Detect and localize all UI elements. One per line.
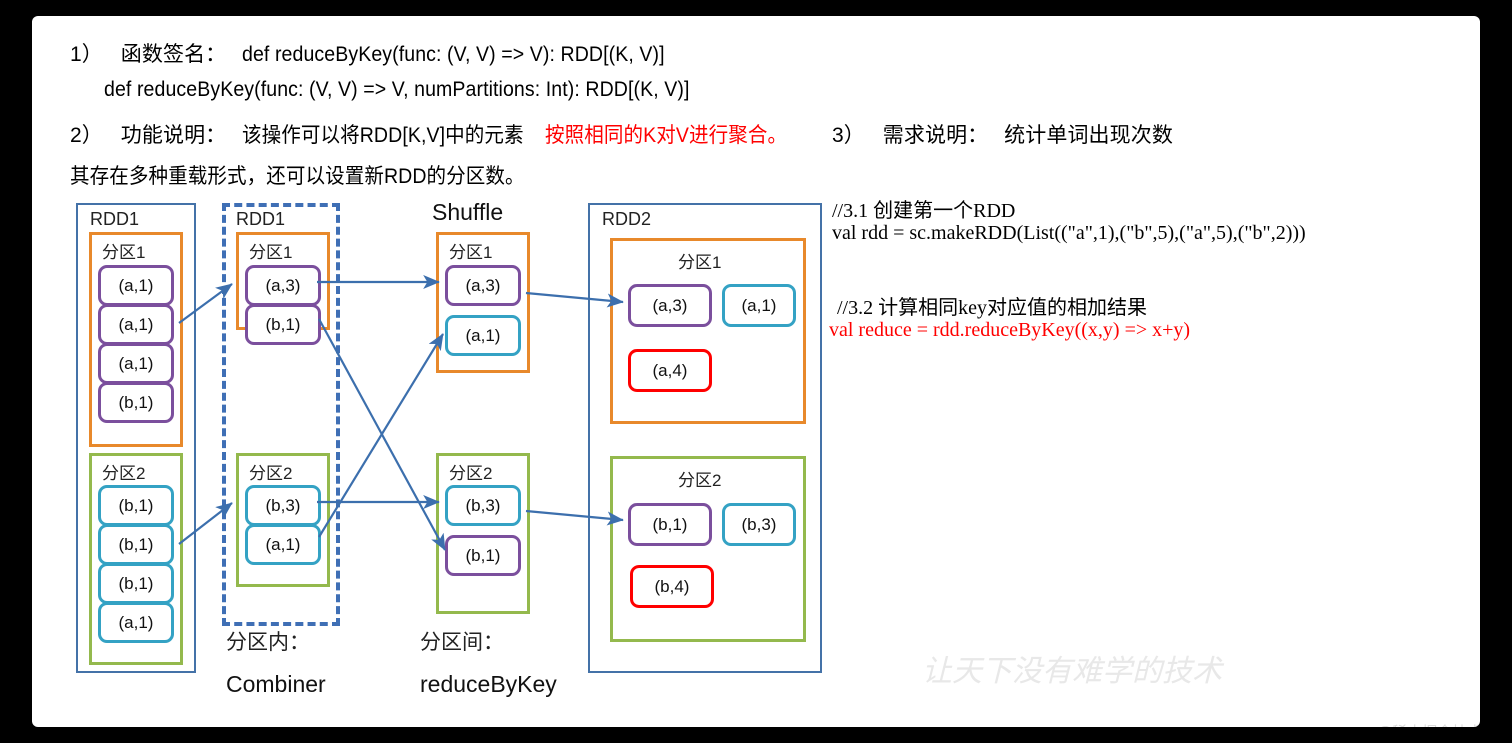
rdd2-partition2-label: 分区2 <box>678 466 721 491</box>
cell-combiner-p1-1: (b,1) <box>245 304 321 345</box>
cell-rdd2-p1-1: (a,1) <box>722 284 796 327</box>
cell-rdd2-p1-2: (a,4) <box>628 349 712 392</box>
cell-rdd1-p1-1: (a,1) <box>98 304 174 345</box>
rdd1-combiner-partition1-label: 分区1 <box>249 238 292 263</box>
shuffle-partition2-label: 分区2 <box>449 459 492 484</box>
cell-shuffle-p2-0: (b,3) <box>445 485 521 526</box>
cell-rdd1-p2-1: (b,1) <box>98 524 174 565</box>
cell-rdd1-p1-0: (a,1) <box>98 265 174 306</box>
rdd1-combiner-title: RDD1 <box>236 209 285 230</box>
combiner-op-label: Combiner <box>226 671 326 698</box>
slide-sheet: 1） 函数签名： def reduceByKey(func: (V, V) =>… <box>32 16 1480 727</box>
cell-combiner-p1-0: (a,3) <box>245 265 321 306</box>
rdd1-combiner-partition2-label: 分区2 <box>249 459 292 484</box>
rdd2-partition1-label: 分区1 <box>678 248 721 273</box>
rdd1-source-partition1-label: 分区1 <box>102 238 145 263</box>
cell-rdd1-p1-2: (a,1) <box>98 343 174 384</box>
cell-shuffle-p1-0: (a,3) <box>445 265 521 306</box>
cell-rdd1-p2-3: (a,1) <box>98 602 174 643</box>
shuffle-partition1-label: 分区1 <box>449 238 492 263</box>
cell-shuffle-p2-1: (b,1) <box>445 535 521 576</box>
shuffle-op-label: reduceByKey <box>420 671 557 698</box>
cell-combiner-p2-1: (a,1) <box>245 524 321 565</box>
cell-rdd1-p2-2: (b,1) <box>98 563 174 604</box>
rdd1-source-partition2-label: 分区2 <box>102 459 145 484</box>
rdd1-source-title: RDD1 <box>90 209 139 230</box>
slogan-watermark: 让天下没有难学的技术 <box>922 646 1222 690</box>
cell-rdd2-p2-2: (b,4) <box>630 565 714 608</box>
shuffle-scope-label: 分区间： <box>420 626 504 656</box>
shuffle-title: Shuffle <box>432 199 503 226</box>
combiner-scope-label: 分区内： <box>226 626 310 656</box>
rdd2-title: RDD2 <box>602 209 651 230</box>
screenshot-root: 1） 函数签名： def reduceByKey(func: (V, V) =>… <box>0 0 1512 743</box>
source-watermark: @稀土掘金技术社区 <box>1377 721 1480 727</box>
cell-rdd2-p2-0: (b,1) <box>628 503 712 546</box>
cell-rdd2-p2-1: (b,3) <box>722 503 796 546</box>
cell-combiner-p2-0: (b,3) <box>245 485 321 526</box>
cell-shuffle-p1-1: (a,1) <box>445 315 521 356</box>
reducebykey-diagram: RDD1 分区1 (a,1) (a,1) (a,1) (b,1) 分区2 (b,… <box>32 16 1480 727</box>
cell-rdd1-p2-0: (b,1) <box>98 485 174 526</box>
cell-rdd2-p1-0: (a,3) <box>628 284 712 327</box>
cell-rdd1-p1-3: (b,1) <box>98 382 174 423</box>
